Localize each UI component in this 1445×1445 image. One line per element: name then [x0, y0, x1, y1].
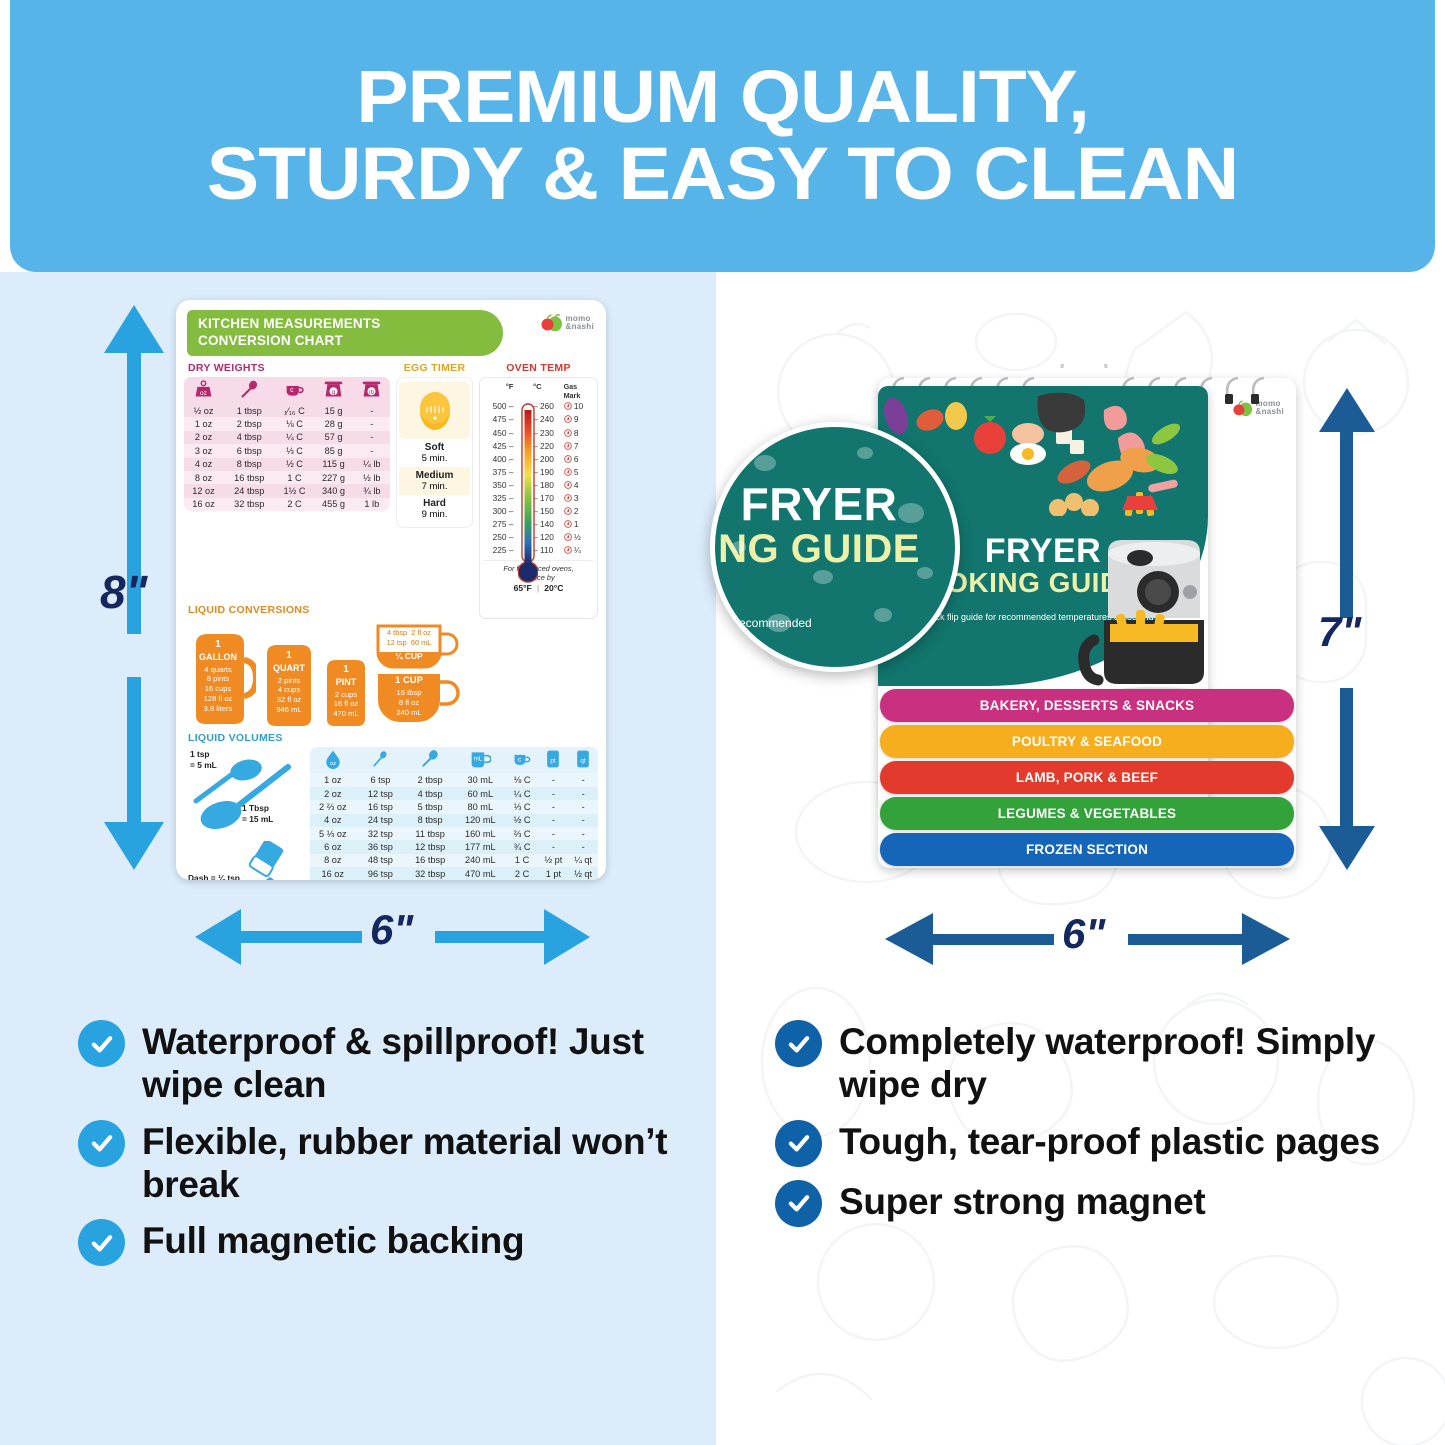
table-cell: 1 lb [354, 498, 391, 511]
feature-text: Full magnetic backing [142, 1219, 524, 1262]
tablespoon-icon [223, 377, 275, 404]
egg-timer-box: Soft5 min.Medium7 min.Hard9 min. [396, 377, 473, 528]
water-droplets [715, 427, 955, 667]
oven-gas-value: 7 [564, 442, 594, 450]
table-row: 16 oz96 tsp32 tbsp470 mL2 C1 pt½ qt [310, 867, 598, 880]
quarter-cup-r1c1: 4 tbsp [387, 628, 407, 637]
dry-weights-title: DRY WEIGHTS [188, 362, 390, 374]
table-cell: 12 oz [184, 484, 223, 497]
table-cell: 32 tbsp [223, 498, 275, 511]
pint-icon: pt [539, 747, 569, 773]
vessel-line: 4 cups [263, 685, 315, 695]
oven-gas-value: 1 [564, 520, 594, 528]
vessel-line: 16 tbsp [379, 688, 439, 698]
table-cell: - [539, 787, 569, 800]
table-cell: 8 tbsp [405, 814, 455, 827]
feature-item: Super strong magnet [775, 1180, 1395, 1227]
oven-temp-row: 500 –– 260 10 [483, 400, 594, 413]
table-cell: ½ qt [568, 867, 598, 880]
egg-time: 9 min. [422, 509, 448, 520]
table-cell: 4 tbsp [223, 431, 275, 444]
cup-blue-icon: c [506, 747, 539, 773]
table-cell: 12 tsp [356, 787, 406, 800]
chart-title-line-2: CONVERSION CHART [198, 333, 503, 350]
oven-gas-value: 9 [564, 415, 594, 423]
table-cell: ⅔ C [506, 827, 539, 840]
oven-temp-row: 250 –– 120 ½ [483, 531, 594, 544]
check-icon [78, 1120, 125, 1167]
table-row: 1 oz2 tbsp⅛ C28 g- [184, 417, 390, 430]
table-cell: 24 tsp [356, 814, 406, 827]
table-cell: 4 oz [184, 458, 223, 471]
table-cell: ⅛ C [506, 773, 539, 786]
cup-icon: c [275, 377, 313, 404]
table-row: 12 oz24 tbsp1½ C340 g¾ lb [184, 484, 390, 497]
table-cell: ⅓ C [275, 444, 313, 457]
quart-qty: 1 [263, 650, 315, 663]
check-icon [775, 1180, 822, 1227]
liquid-volumes-title: LIQUID VOLUMES [188, 732, 598, 744]
table-cell: 4 tbsp [405, 787, 455, 800]
table-cell: - [539, 840, 569, 853]
dry-weights-icon-row: oz c g lb [184, 377, 390, 404]
table-cell: 120 mL [455, 814, 506, 827]
quarter-cup-vessel: 4 tbsp 2 fl oz 12 tsp 60 mL ¼ CUP [375, 622, 461, 670]
table-cell: 12 tbsp [405, 840, 455, 853]
check-icon [775, 1120, 822, 1167]
table-cell: - [568, 787, 598, 800]
chart-header: KITCHEN MEASUREMENTS CONVERSION CHART mo… [184, 308, 598, 356]
table-cell: 24 tbsp [223, 484, 275, 497]
vessel-line: 128 fl oz [192, 694, 244, 704]
table-cell: - [568, 827, 598, 840]
table-cell: ¼ qt [568, 854, 598, 867]
left-width-label: 6" [370, 906, 413, 954]
quart-icon: qt [568, 747, 598, 773]
oven-temp-row: 325 –– 170 3 [483, 492, 594, 505]
oven-header-gas: Gas Mark [564, 382, 594, 400]
magnifier-zoom-circle: FRYER NG GUIDE ecommended es. [710, 422, 960, 672]
table-cell: ₁⁄₁₆ C [275, 404, 313, 417]
feature-text: Super strong magnet [839, 1180, 1205, 1223]
egg-timer-title: EGG TIMER [396, 362, 473, 374]
oven-gas-value: 6 [564, 455, 594, 463]
oven-temp-row: 300 –– 150 2 [483, 505, 594, 518]
table-row: 6 oz36 tsp12 tbsp177 mL¾ C-- [310, 840, 598, 853]
svg-text:lb: lb [369, 389, 374, 396]
liquid-volumes-table: oz mL c pt [310, 747, 598, 880]
table-cell: ½ C [506, 814, 539, 827]
oven-f-value: 300 – [483, 507, 513, 515]
table-cell: 16 tsp [356, 800, 406, 813]
pint-name: PINT [323, 677, 369, 689]
oven-f-value: 350 – [483, 481, 513, 489]
feature-item: Tough, tear-proof plastic pages [775, 1120, 1395, 1167]
svg-text:pt: pt [551, 758, 556, 765]
table-cell: 240 mL [455, 854, 506, 867]
tbsp-note-2: = 15 mL [242, 814, 273, 825]
table-cell: 2 C [506, 867, 539, 880]
table-row: 8 oz48 tsp16 tbsp240 mL1 C½ pt¼ qt [310, 854, 598, 867]
table-cell: 1 C [506, 854, 539, 867]
table-cell: 115 g [314, 458, 354, 471]
table-cell: 1 oz [184, 417, 223, 430]
feature-text: Completely waterproof! Simply wipe dry [839, 1020, 1395, 1107]
cup-name: CUP [403, 675, 423, 686]
table-cell: ¼ lb [354, 458, 391, 471]
oven-f-value: 275 – [483, 520, 513, 528]
vessel-line: 240 mL [379, 708, 439, 718]
tablespoon-blue-icon [405, 747, 455, 773]
table-cell: 80 mL [455, 800, 506, 813]
table-cell: ½ oz [184, 404, 223, 417]
egg-timer-row: Medium7 min. [399, 467, 470, 495]
hero-banner: PREMIUM QUALITY, STURDY & EASY TO CLEAN [10, 0, 1435, 272]
table-cell: 16 oz [184, 498, 223, 511]
table-cell: 11 tbsp [405, 827, 455, 840]
gallon-qty: 1 [192, 639, 244, 652]
table-cell: - [354, 431, 391, 444]
oven-gas-value: 4 [564, 481, 594, 489]
oven-note-celsius: 20°C [544, 583, 563, 593]
egg-timer-row: Hard9 min. [399, 495, 470, 523]
egg-timer-rows: Soft5 min.Medium7 min.Hard9 min. [399, 439, 470, 523]
oven-gas-value: 8 [564, 429, 594, 437]
egg-doneness: Soft [399, 442, 470, 453]
table-cell: - [539, 827, 569, 840]
flipbook-tab[interactable]: POULTRY & SEAFOOD [880, 725, 1294, 758]
check-icon [78, 1219, 125, 1266]
thermometer-icon [518, 402, 538, 590]
check-icon [775, 1020, 822, 1067]
table-cell: 48 tsp [356, 854, 406, 867]
oven-gas-value: 3 [564, 494, 594, 502]
oven-f-value: 250 – [483, 533, 513, 541]
liquid-volumes-body: 1 oz6 tsp2 tbsp30 mL⅛ C--2 oz12 tsp4 tbs… [310, 773, 598, 880]
table-cell: 160 mL [455, 827, 506, 840]
banner-line-2: STURDY & EASY TO CLEAN [207, 136, 1238, 213]
table-cell: - [354, 404, 391, 417]
oven-temp-row: 375 –– 190 5 [483, 465, 594, 478]
table-cell: - [539, 814, 569, 827]
table-cell: 6 tsp [356, 773, 406, 786]
oven-f-value: 500 – [483, 402, 513, 410]
vessel-line: 32 fl oz [263, 695, 315, 705]
table-cell: 32 tbsp [405, 867, 455, 880]
oven-temp-row: 450 –– 230 8 [483, 426, 594, 439]
svg-text:qt: qt [581, 758, 586, 765]
vessel-line: 8 pints [192, 674, 244, 684]
oven-f-value: 325 – [483, 494, 513, 502]
table-row: 16 oz32 tbsp2 C455 g1 lb [184, 498, 390, 511]
oven-temp-box: °F °C Gas Mark [479, 377, 598, 619]
gallon-vessel: 1 GALLON 4 quarts8 pints16 cups128 fl oz… [188, 626, 256, 726]
oven-f-value: 425 – [483, 442, 513, 450]
table-cell: 36 tsp [356, 840, 406, 853]
feature-item: Completely waterproof! Simply wipe dry [775, 1020, 1395, 1107]
weight-oz-icon: oz [184, 377, 223, 404]
oven-temp-row: 475 –– 240 9 [483, 413, 594, 426]
table-cell: ¾ C [506, 840, 539, 853]
oven-gas-value: ¼ [564, 546, 594, 554]
flipbook-tab[interactable]: LEGUMES & VEGETABLES [880, 797, 1294, 830]
brand-logo: momo &nashi [541, 314, 594, 331]
oven-temp-rows: 500 –– 260 10475 –– 240 9450 –– 230 8425… [483, 400, 594, 557]
oven-f-value: 375 – [483, 468, 513, 476]
brand-name-line-2: &nashi [566, 323, 594, 331]
table-cell: 8 oz [184, 471, 223, 484]
table-cell: 2 oz [184, 431, 223, 444]
vessel-line: 3.8 liters [192, 704, 244, 714]
table-row: 2 ⅔ oz16 tsp5 tbsp80 mL⅓ C-- [310, 800, 598, 813]
oven-header-f: °F [483, 382, 513, 400]
table-cell: 15 g [314, 404, 354, 417]
table-cell: - [568, 814, 598, 827]
table-cell: 340 g [314, 484, 354, 497]
table-cell: 5 tbsp [405, 800, 455, 813]
table-cell: 6 oz [310, 840, 356, 853]
quarter-cup-r1c2: 2 fl oz [411, 628, 431, 637]
table-cell: 16 tbsp [223, 471, 275, 484]
cup-qty: 1 [395, 675, 400, 686]
svg-text:oz: oz [330, 761, 336, 767]
egg-time: 5 min. [422, 453, 448, 464]
feature-item: Flexible, rubber material won’t break [78, 1120, 718, 1207]
right-height-label: 7" [1318, 608, 1361, 656]
fluid-oz-icon: oz [310, 747, 356, 773]
salt-shaker-icon [240, 841, 296, 880]
table-cell: - [354, 444, 391, 457]
table-cell: 16 tbsp [405, 854, 455, 867]
right-width-label: 6" [1062, 910, 1105, 958]
table-cell: 8 oz [310, 854, 356, 867]
kitchen-conversion-chart: KITCHEN MEASUREMENTS CONVERSION CHART mo… [176, 300, 606, 880]
pint-qty: 1 [323, 664, 369, 677]
vessel-line: 16 fl oz [323, 699, 369, 709]
quarter-cup-r2c1: 12 tsp [387, 638, 407, 647]
scale-grams-icon: g [314, 377, 354, 404]
table-cell: 57 g [314, 431, 354, 444]
check-icon [78, 1020, 125, 1067]
table-cell: 6 tbsp [223, 444, 275, 457]
vessel-line: 470 mL [323, 709, 369, 719]
vessel-line: 946 mL [263, 705, 315, 715]
vessel-line: 2 pints [263, 676, 315, 686]
table-cell: 4 oz [310, 814, 356, 827]
gallon-name: GALLON [192, 652, 244, 664]
cup-vessel: 1 CUP 16 tbsp8 fl oz240 mL [375, 672, 461, 726]
feature-text: Tough, tear-proof plastic pages [839, 1120, 1380, 1163]
table-cell: 1 tbsp [223, 404, 275, 417]
scale-pounds-icon: lb [354, 377, 391, 404]
table-cell: 1 pt [539, 867, 569, 880]
oven-temp-title: OVEN TEMP [479, 362, 598, 374]
oven-f-value: 225 – [483, 546, 513, 554]
egg-doneness: Hard [399, 498, 470, 509]
oven-gas-value: 10 [564, 402, 594, 410]
table-cell: - [568, 800, 598, 813]
egg-time: 7 min. [422, 481, 448, 492]
table-cell: 5 ⅓ oz [310, 827, 356, 840]
table-cell: ½ C [275, 458, 313, 471]
banner-line-1: PREMIUM QUALITY, [356, 59, 1089, 136]
table-cell: 85 g [314, 444, 354, 457]
table-cell: - [539, 773, 569, 786]
table-cell: 2 tbsp [405, 773, 455, 786]
table-cell: ¼ C [275, 431, 313, 444]
dry-weights-table: oz c g lb ½ oz1 tbsp₁⁄₁₆ C15 g-1 oz [184, 377, 390, 511]
quarter-cup-r2c2: 60 mL [411, 638, 432, 647]
peach-pear-icon [541, 314, 563, 331]
table-cell: 8 tbsp [223, 458, 275, 471]
oven-temp-row: 350 –– 180 4 [483, 478, 594, 491]
egg-timer-row: Soft5 min. [399, 439, 470, 467]
table-cell: ½ lb [354, 471, 391, 484]
quart-name: QUART [263, 663, 315, 675]
feature-item: Waterproof & spillproof! Just wipe clean [78, 1020, 718, 1107]
table-row: 2 oz12 tsp4 tbsp60 mL¼ C-- [310, 787, 598, 800]
table-cell: ⅛ C [275, 417, 313, 430]
left-height-label: 8" [100, 565, 147, 619]
table-row: 4 oz8 tbsp½ C115 g¼ lb [184, 458, 390, 471]
teaspoon-icon [356, 747, 406, 773]
right-feature-list: Completely waterproof! Simply wipe dryTo… [775, 1020, 1395, 1240]
flipbook-tab[interactable]: LAMB, PORK & BEEF [880, 761, 1294, 794]
table-cell: - [354, 417, 391, 430]
table-cell: 470 mL [455, 867, 506, 880]
table-row: ½ oz1 tbsp₁⁄₁₆ C15 g- [184, 404, 390, 417]
table-cell: 96 tsp [356, 867, 406, 880]
liquid-volumes-icon-row: oz mL c pt [310, 747, 598, 773]
pint-vessel: 1 PINT 2 cups16 fl oz470 mL [322, 654, 370, 726]
table-row: 2 oz4 tbsp¼ C57 g- [184, 431, 390, 444]
oven-note-line-1: For fan-forced ovens, [483, 564, 594, 573]
svg-text:oz: oz [200, 390, 207, 397]
oven-note-line-2: reduce by [483, 573, 594, 582]
oven-temp-row: 275 –– 140 1 [483, 518, 594, 531]
table-row: 5 ⅓ oz32 tsp11 tbsp160 mL⅔ C-- [310, 827, 598, 840]
flipbook-tab[interactable]: FROZEN SECTION [880, 833, 1294, 866]
svg-text:g: g [332, 389, 336, 396]
table-cell: - [568, 773, 598, 786]
feature-text: Flexible, rubber material won’t break [142, 1120, 718, 1207]
left-feature-list: Waterproof & spillproof! Just wipe clean… [78, 1020, 718, 1279]
vessel-line: 16 cups [192, 684, 244, 694]
table-cell: 30 mL [455, 773, 506, 786]
oven-temp-row: 425 –– 220 7 [483, 439, 594, 452]
oven-f-value: 475 – [483, 415, 513, 423]
table-cell: 32 tsp [356, 827, 406, 840]
milliliter-jug-icon: mL [455, 747, 506, 773]
table-cell: 2 oz [310, 787, 356, 800]
table-cell: 227 g [314, 471, 354, 484]
table-cell: - [539, 800, 569, 813]
oven-gas-value: 2 [564, 507, 594, 515]
table-cell: 177 mL [455, 840, 506, 853]
egg-doneness: Medium [399, 470, 470, 481]
svg-text:c: c [290, 387, 294, 394]
table-cell: ¾ lb [354, 484, 391, 497]
table-cell: 28 g [314, 417, 354, 430]
vessel-line: 8 fl oz [379, 698, 439, 708]
egg-icon [415, 386, 455, 432]
table-cell: 1 C [275, 471, 313, 484]
table-cell: 16 oz [310, 867, 356, 880]
table-row: 3 oz6 tbsp⅓ C85 g- [184, 444, 390, 457]
chart-title-line-1: KITCHEN MEASUREMENTS [198, 316, 503, 333]
table-cell: 455 g [314, 498, 354, 511]
chart-title-block: KITCHEN MEASUREMENTS CONVERSION CHART [187, 310, 503, 356]
dash-note: Dash = ⅛ tsp [188, 873, 247, 880]
oven-temp-headers: °F °C Gas Mark [483, 382, 594, 400]
oven-f-value: 400 – [483, 455, 513, 463]
svg-text:mL: mL [474, 756, 483, 763]
oven-temp-row: 225 –– 110 ¼ [483, 544, 594, 557]
table-row: 8 oz16 tbsp1 C227 g½ lb [184, 471, 390, 484]
table-cell: ½ pt [539, 854, 569, 867]
table-cell: ¼ C [506, 787, 539, 800]
tbsp-note-1: 1 Tbsp [242, 803, 273, 814]
oven-header-c: °C [533, 382, 563, 400]
table-cell: 2 ⅔ oz [310, 800, 356, 813]
flipbook-tab[interactable]: BAKERY, DESSERTS & SNACKS [880, 689, 1294, 722]
feature-item: Full magnetic backing [78, 1219, 718, 1266]
oven-f-value: 450 – [483, 429, 513, 437]
table-cell: ⅓ C [506, 800, 539, 813]
table-cell: - [568, 840, 598, 853]
vessel-line: 2 cups [323, 690, 369, 700]
table-cell: 3 oz [184, 444, 223, 457]
dry-weights-body: ½ oz1 tbsp₁⁄₁₆ C15 g-1 oz2 tbsp⅛ C28 g-2… [184, 404, 390, 511]
table-cell: 1 oz [310, 773, 356, 786]
table-cell: 60 mL [455, 787, 506, 800]
quarter-cup-name: ¼ CUP [380, 651, 438, 662]
oven-gas-value: ½ [564, 533, 594, 541]
vessel-line: 4 quarts [192, 665, 244, 675]
egg-illustration [399, 382, 470, 439]
table-row: 4 oz24 tsp8 tbsp120 mL½ C-- [310, 814, 598, 827]
table-row: 1 oz6 tsp2 tbsp30 mL⅛ C-- [310, 773, 598, 786]
table-cell: 2 tbsp [223, 417, 275, 430]
quart-vessel: 1 QUART 2 pints4 cups32 fl oz946 mL [261, 638, 317, 726]
flipbook-category-tabs: BAKERY, DESSERTS & SNACKSPOULTRY & SEAFO… [880, 689, 1294, 866]
spoon-illustrations: 1 tsp = 5 mL 1 Tbsp = 15 mL [184, 747, 304, 880]
table-cell: 1½ C [275, 484, 313, 497]
oven-gas-value: 5 [564, 468, 594, 476]
feature-text: Waterproof & spillproof! Just wipe clean [142, 1020, 718, 1107]
table-cell: 2 C [275, 498, 313, 511]
air-fryer-flipbook: momo &nashi [878, 378, 1296, 868]
oven-temp-row: 400 –– 200 6 [483, 452, 594, 465]
